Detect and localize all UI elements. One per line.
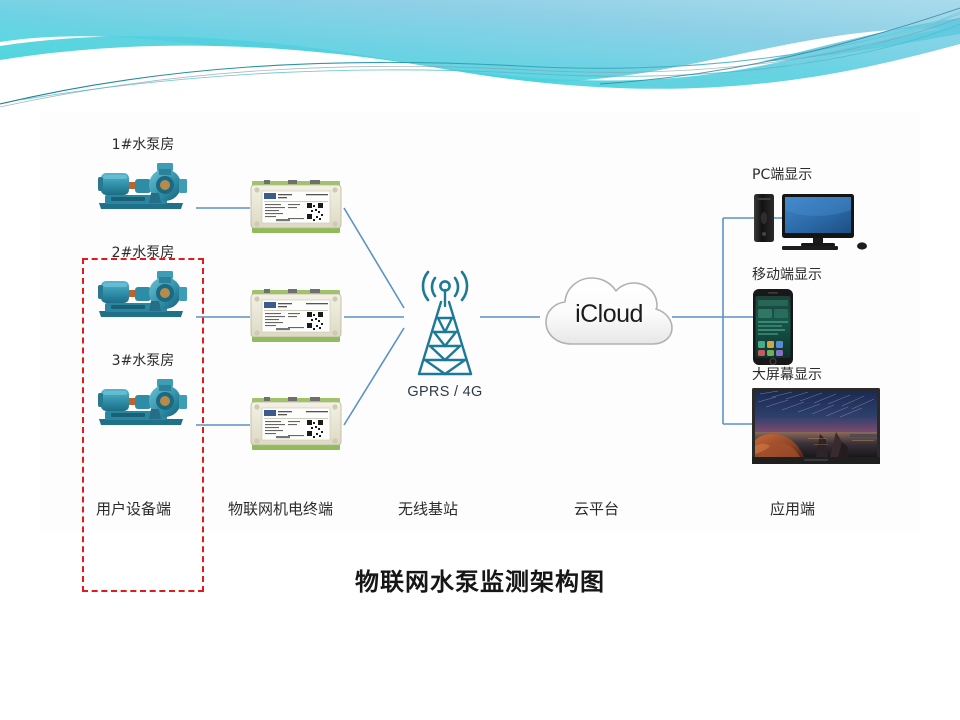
stage-label-application: 应用端 xyxy=(770,498,815,519)
iot-terminal-icon xyxy=(248,178,344,236)
header-wave-decoration xyxy=(0,0,960,108)
application-pc-label: PC端显示 xyxy=(752,164,874,184)
application-mobile-label: 移动端显示 xyxy=(752,264,822,284)
iot-terminal-icon xyxy=(248,395,344,453)
iot-terminal-3[interactable] xyxy=(248,395,344,453)
stage-label-cloud-platform: 云平台 xyxy=(574,498,619,519)
cloud-platform-label: iCloud xyxy=(536,264,682,360)
iot-terminal-icon xyxy=(248,287,344,345)
stage-label-row: 用户设备端 物联网机电终端 无线基站 云平台 应用端 xyxy=(0,498,960,528)
pump-station-1[interactable]: 1#水泵房 xyxy=(88,138,198,213)
water-pump-icon xyxy=(91,157,195,213)
iot-terminal-1[interactable] xyxy=(248,178,344,236)
large-screen-display-icon xyxy=(752,388,880,464)
desktop-computer-icon xyxy=(752,188,874,252)
pump-station-3[interactable]: 3#水泵房 xyxy=(88,354,198,429)
stage-label-base-station: 无线基站 xyxy=(398,498,458,519)
slide-canvas: 1#水泵房 xyxy=(0,0,960,720)
application-large-screen-label: 大屏幕显示 xyxy=(752,364,880,384)
application-pc-display[interactable]: PC端显示 xyxy=(752,164,874,257)
stage-label-iot-terminal: 物联网机电终端 xyxy=(228,498,333,519)
stage-label-user-equipment: 用户设备端 xyxy=(96,498,171,519)
architecture-diagram: 1#水泵房 xyxy=(0,112,960,542)
cell-tower-icon xyxy=(397,262,493,382)
wireless-base-station[interactable]: GPRS / 4G xyxy=(390,262,500,400)
iot-terminal-2[interactable] xyxy=(248,287,344,345)
pump-station-3-label: 3#水泵房 xyxy=(88,354,198,368)
pump-station-1-label: 1#水泵房 xyxy=(88,138,198,152)
figure-title: 物联网水泵监测架构图 xyxy=(0,562,960,597)
cloud-platform[interactable]: iCloud xyxy=(536,264,682,360)
pump-station-2-label: 2#水泵房 xyxy=(88,246,198,260)
pump-station-2[interactable]: 2#水泵房 xyxy=(88,246,198,321)
water-pump-icon xyxy=(91,265,195,321)
application-large-screen-display[interactable]: 大屏幕显示 xyxy=(752,364,880,469)
application-mobile-display[interactable]: 移动端显示 xyxy=(752,264,822,371)
smartphone-icon xyxy=(752,288,794,366)
wireless-base-station-label: GPRS / 4G xyxy=(390,384,500,400)
water-pump-icon xyxy=(91,373,195,429)
